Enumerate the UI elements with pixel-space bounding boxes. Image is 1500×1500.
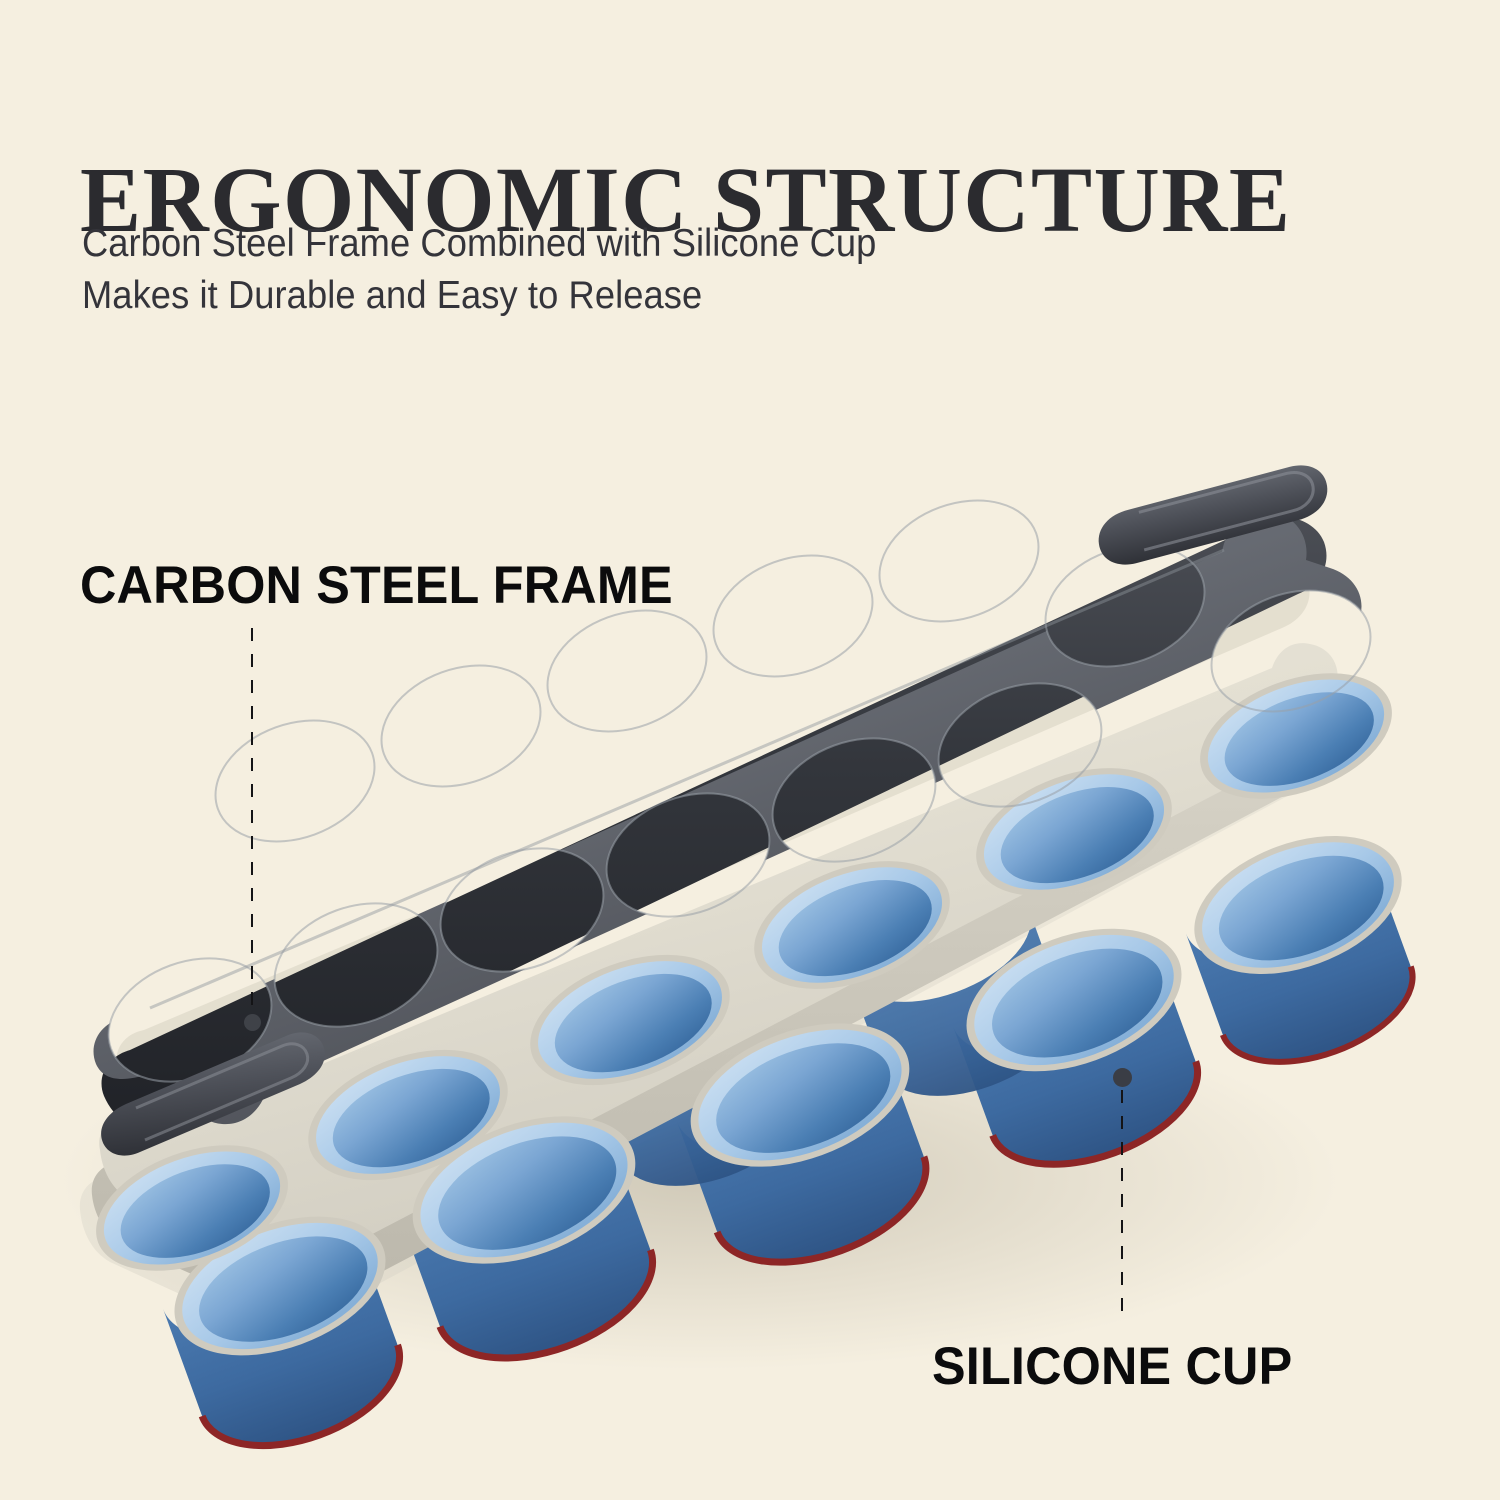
- silicone-cup-row-back: [79, 649, 1409, 1295]
- page-subtitle: Carbon Steel Frame Combined with Silicon…: [82, 218, 876, 322]
- silicone-cup: [290, 1025, 525, 1205]
- silicone-cup: [671, 996, 929, 1194]
- callout-label-silicone-cup: SILICONE CUP: [932, 1340, 1292, 1393]
- subtitle-line-1: Carbon Steel Frame Combined with Silicon…: [82, 218, 876, 270]
- silicone-cup: [947, 902, 1201, 1099]
- tray-top: [99, 643, 1378, 1264]
- silicone-cup: [512, 930, 747, 1110]
- tray-side: [92, 695, 1378, 1308]
- silicone-cup: [737, 837, 968, 1014]
- subtitle-line-2: Makes it Durable and Easy to Release: [82, 270, 876, 322]
- frame-handle-left: [101, 1032, 325, 1155]
- silicone-cup: [155, 1190, 404, 1382]
- silicone-cup: [79, 1121, 305, 1295]
- callout-anchor-dot-silicone-cup: [1113, 1068, 1132, 1087]
- frame-handle-right: [1092, 462, 1334, 568]
- silicone-cup: [959, 744, 1190, 921]
- tray-ghost: [80, 695, 1383, 1325]
- infographic-canvas: ERGONOMIC STRUCTURE Carbon Steel Frame C…: [0, 0, 1500, 1500]
- callout-leader-silicone-cup: [1121, 1090, 1123, 1318]
- silicone-cup-row-front: [155, 810, 1420, 1382]
- ground-shadow: [60, 990, 1340, 1370]
- silicone-cup: [1183, 649, 1409, 823]
- silicone-cup: [1175, 810, 1420, 1000]
- callout-label-carbon-steel-frame: CARBON STEEL FRAME: [80, 559, 673, 612]
- silicone-cup: [392, 1088, 655, 1291]
- callout-anchor-dot-carbon-steel-frame: [244, 1014, 261, 1031]
- callout-leader-carbon-steel-frame: [251, 628, 253, 1020]
